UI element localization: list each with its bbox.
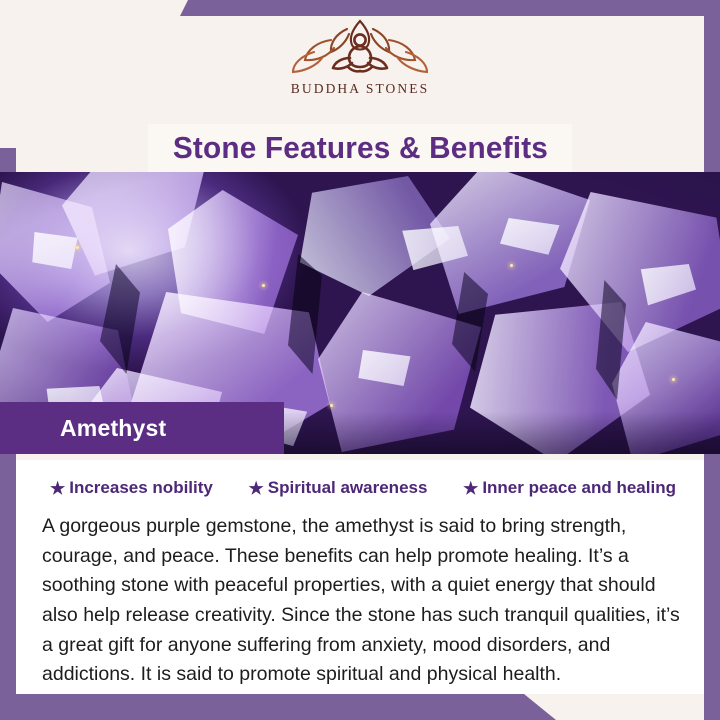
lotus-meditation-icon <box>284 16 436 78</box>
feature-item-inner-peace-and-healing: ★ Inner peace and healing <box>463 478 676 498</box>
page-title: Stone Features & Benefits <box>172 130 547 166</box>
brand-logo: BUDDHA STONES <box>0 16 720 120</box>
title-plate: Stone Features & Benefits <box>148 124 572 172</box>
star-icon: ★ <box>50 480 65 497</box>
stone-details-panel: ★ Increases nobility ★ Spiritual awarene… <box>16 460 704 694</box>
stone-name: Amethyst <box>60 415 166 442</box>
frame-bottom-band <box>0 694 556 720</box>
star-icon: ★ <box>463 480 478 497</box>
feature-label: Inner peace and healing <box>482 478 676 498</box>
brand-name: BUDDHA STONES <box>291 81 429 97</box>
stone-features-poster: BUDDHA STONES Stone Features & Benefits <box>0 0 720 720</box>
stone-name-banner: Amethyst <box>0 402 284 454</box>
feature-label: Spiritual awareness <box>268 478 428 498</box>
stone-description: A gorgeous purple gemstone, the amethyst… <box>30 512 690 690</box>
poster-header: BUDDHA STONES Stone Features & Benefits <box>0 0 720 172</box>
feature-list: ★ Increases nobility ★ Spiritual awarene… <box>30 474 690 502</box>
feature-item-spiritual-awareness: ★ Spiritual awareness <box>249 478 428 498</box>
star-icon: ★ <box>249 480 264 497</box>
feature-item-increases-nobility: ★ Increases nobility <box>50 478 213 498</box>
feature-label: Increases nobility <box>69 478 213 498</box>
